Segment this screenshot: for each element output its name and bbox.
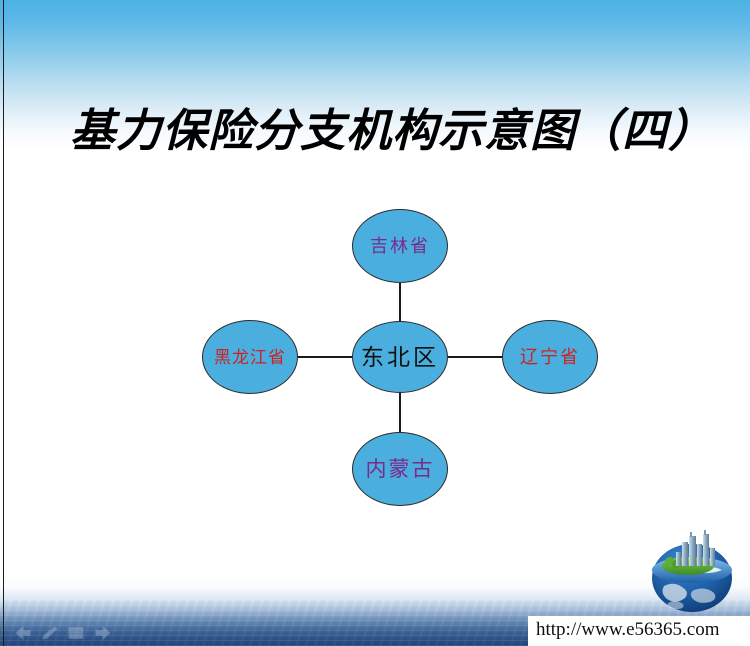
node-dongbei-region[interactable]: 东北区 — [352, 321, 448, 393]
node-liaoning[interactable]: 辽宁省 — [502, 320, 598, 394]
pen-annotate-icon[interactable] — [42, 626, 58, 640]
connector-center-to-left — [298, 356, 352, 358]
org-chart-diagram: 吉林省 黑龙江省 东北区 辽宁省 内蒙古 — [0, 0, 750, 646]
node-heilongjiang-label: 黑龙江省 — [214, 349, 286, 366]
slide-menu-icon[interactable] — [68, 626, 84, 640]
connector-center-to-top — [399, 283, 401, 321]
presentation-slide: 基力保险分支机构示意图（四） 吉林省 黑龙江省 东北区 辽宁省 内蒙古 — [0, 0, 750, 646]
slideshow-nav-icons — [14, 622, 124, 644]
node-inner-mongolia[interactable]: 内蒙古 — [352, 432, 448, 506]
node-inner-mongolia-label: 内蒙古 — [366, 459, 435, 480]
node-jilin-label: 吉林省 — [370, 237, 430, 255]
next-slide-icon[interactable] — [94, 626, 112, 640]
node-heilongjiang[interactable]: 黑龙江省 — [202, 320, 298, 394]
node-dongbei-region-label: 东北区 — [361, 346, 439, 369]
connector-center-to-right — [448, 356, 502, 358]
connector-center-to-bottom — [399, 393, 401, 432]
previous-slide-icon[interactable] — [14, 626, 32, 640]
node-liaoning-label: 辽宁省 — [520, 348, 580, 366]
earth-city-globe-logo — [640, 528, 744, 618]
website-url[interactable]: http://www.e56365.com — [536, 619, 719, 641]
node-jilin[interactable]: 吉林省 — [352, 209, 448, 283]
